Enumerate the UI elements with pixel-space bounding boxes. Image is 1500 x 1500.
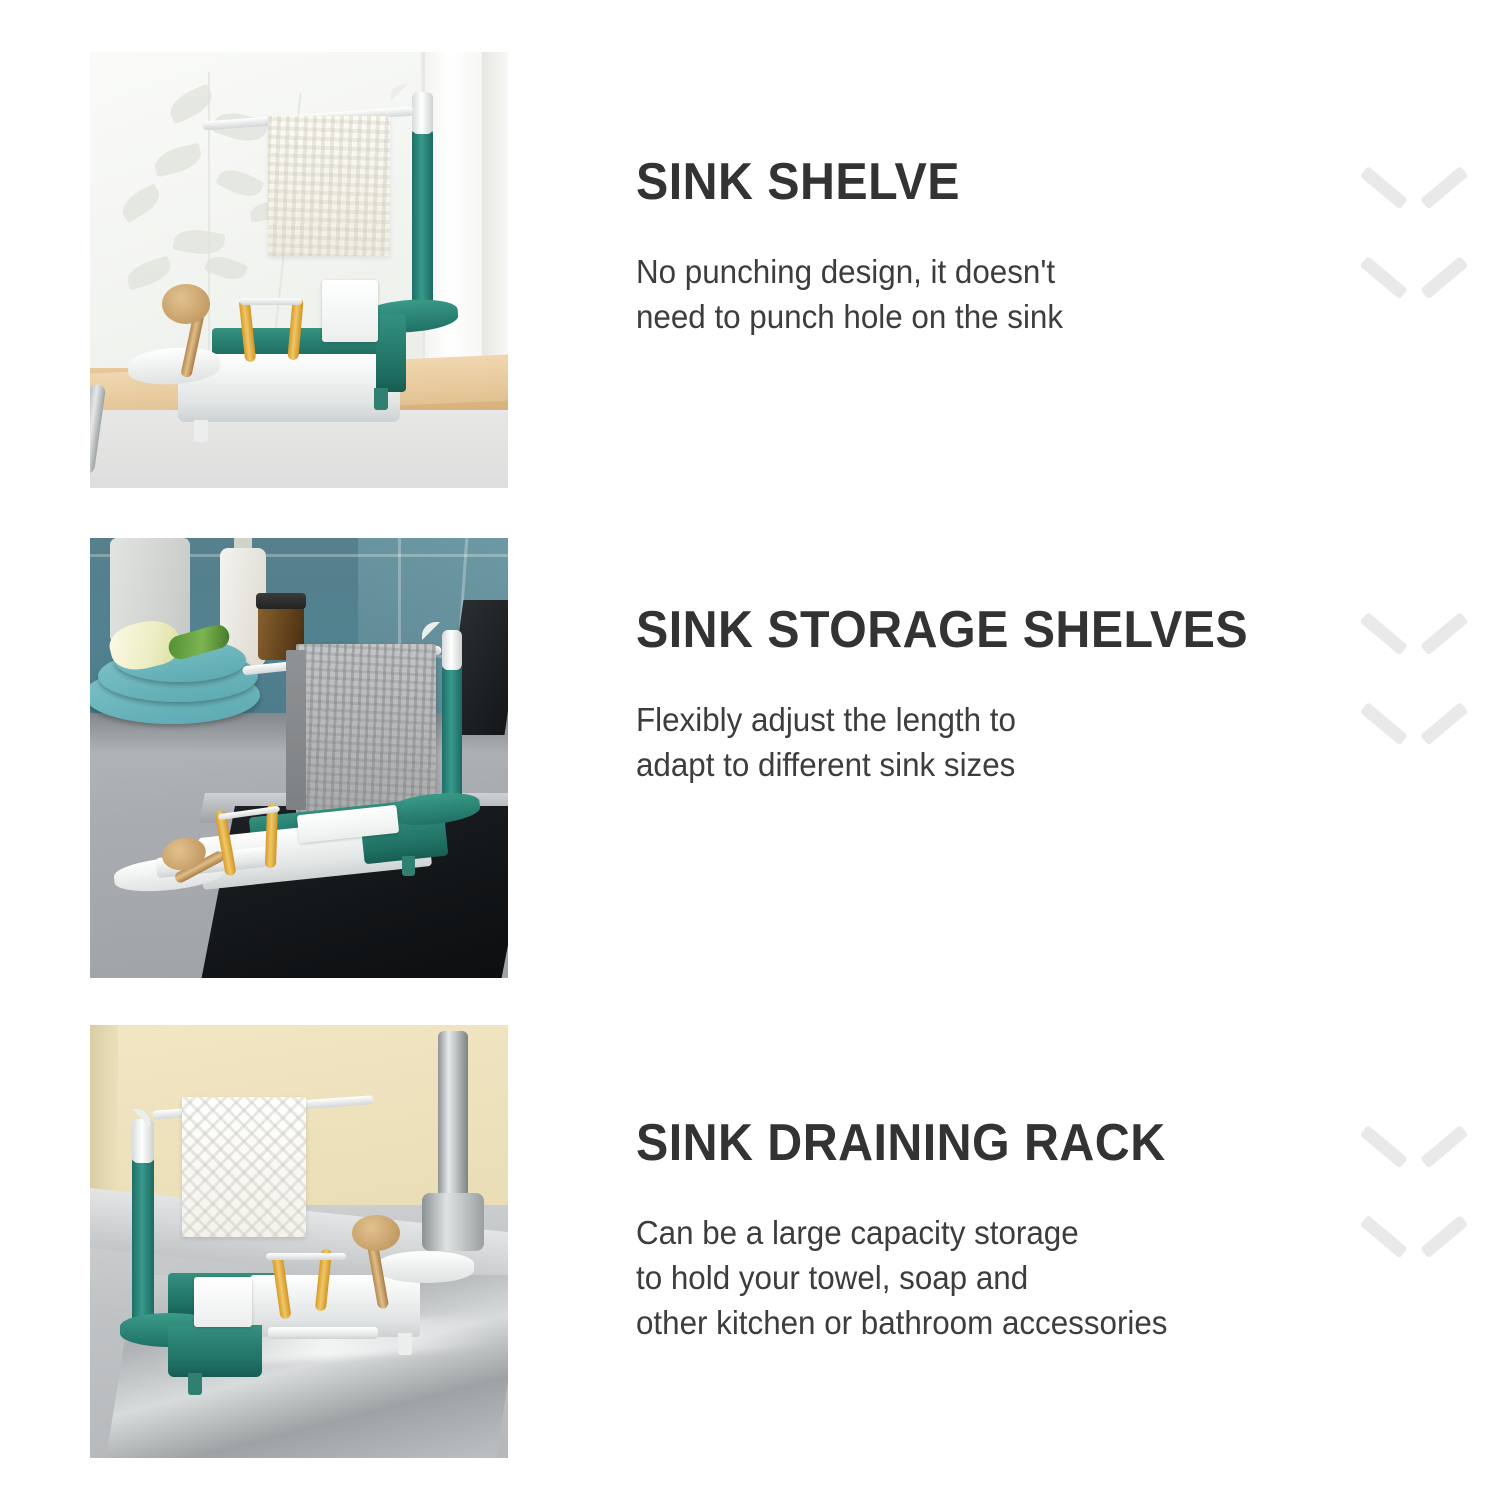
- rack-side-teal: [168, 1325, 262, 1377]
- feature-body-line: Can be a large capacity storage: [636, 1211, 1301, 1256]
- rack-foot: [398, 1333, 412, 1355]
- rack-elbow: [132, 1109, 150, 1127]
- feature-body-line: need to punch hole on the sink: [636, 295, 1301, 340]
- feature-section-sink-storage-shelves: SINK STORAGE SHELVES Flexibly adjust the…: [0, 538, 1500, 978]
- rack-foot: [374, 388, 388, 410]
- sink-caddy-rack: [90, 52, 508, 488]
- chevron-down-icon: [1368, 1121, 1460, 1173]
- feature-body-line: No punching design, it doesn't: [636, 250, 1301, 295]
- sink-caddy-rack: [90, 538, 508, 978]
- rack-foot: [194, 420, 208, 442]
- feature-body-line: to hold your towel, soap and: [636, 1256, 1301, 1301]
- rack-post-top: [442, 630, 462, 670]
- white-towel: [268, 116, 390, 256]
- product-image-sink-draining-rack: [90, 1025, 508, 1458]
- feature-heading: SINK DRAINING RACK: [636, 1113, 1287, 1173]
- product-image-sink-storage-shelves: [90, 538, 508, 978]
- rack-foot: [402, 856, 415, 876]
- feature-section-sink-shelve: SINK SHELVE No punching design, it doesn…: [0, 52, 1500, 488]
- feature-text-sink-storage-shelves: SINK STORAGE SHELVES Flexibly adjust the…: [636, 600, 1336, 788]
- rack-post: [132, 1155, 154, 1337]
- feature-body-line: adapt to different sink sizes: [636, 743, 1301, 788]
- rack-foot: [188, 1373, 202, 1395]
- chevron-down-icon: [1368, 698, 1460, 750]
- rack-side-teal: [376, 314, 406, 392]
- scrub-brush-head: [162, 284, 210, 324]
- feature-text-sink-draining-rack: SINK DRAINING RACK Can be a large capaci…: [636, 1113, 1336, 1346]
- chevron-down-icon: [1368, 162, 1460, 214]
- product-infographic-page: SINK SHELVE No punching design, it doesn…: [0, 0, 1500, 1500]
- rack-elbow: [422, 622, 440, 640]
- feature-heading: SINK STORAGE SHELVES: [636, 600, 1287, 660]
- white-sponge: [194, 1277, 252, 1327]
- rack-post: [442, 663, 462, 808]
- rack-inner-bar: [240, 298, 302, 305]
- chevron-down-icon: [1368, 252, 1460, 304]
- white-waffle-towel: [182, 1097, 306, 1237]
- feature-body-line: other kitchen or bathroom accessories: [636, 1301, 1301, 1346]
- feature-section-sink-draining-rack: SINK DRAINING RACK Can be a large capaci…: [0, 1025, 1500, 1458]
- rack-extension-arm: [268, 1327, 378, 1339]
- rack-elbow: [390, 84, 408, 102]
- chevron-down-icon: [1368, 1211, 1460, 1263]
- rack-end-cap: [378, 1251, 474, 1283]
- rack-post: [412, 127, 433, 312]
- rack-inner-bar: [266, 1253, 346, 1260]
- feature-heading: SINK SHELVE: [636, 152, 1287, 212]
- scrub-brush-head: [352, 1215, 400, 1251]
- feature-body-line: Flexibly adjust the length to: [636, 698, 1301, 743]
- white-sponge: [322, 280, 378, 342]
- feature-text-sink-shelve: SINK SHELVE No punching design, it doesn…: [636, 152, 1336, 340]
- chevron-down-icon: [1368, 608, 1460, 660]
- product-image-sink-shelve: [90, 52, 508, 488]
- rack-post-top: [412, 92, 433, 134]
- gray-towel: [296, 644, 436, 814]
- towel-fold: [286, 650, 306, 810]
- sink-caddy-rack: [90, 1025, 508, 1458]
